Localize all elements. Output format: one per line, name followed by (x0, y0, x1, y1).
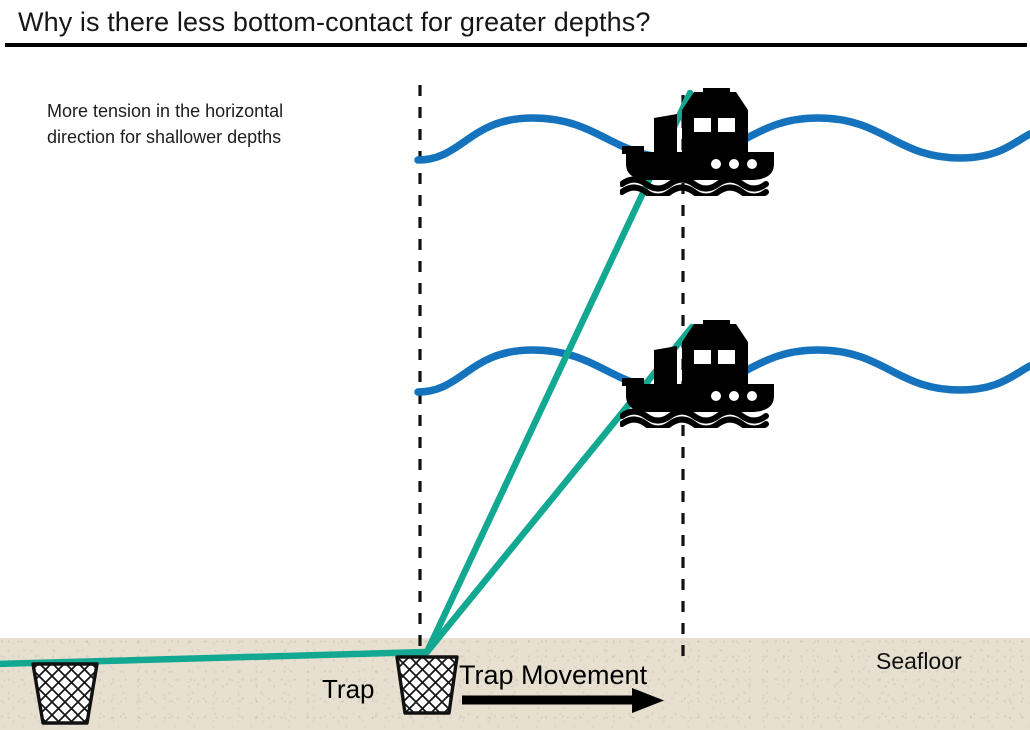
diagram-vector-layer (0, 0, 1030, 730)
right-arrow-icon (462, 688, 664, 713)
lobster-trap-icon-center (397, 657, 457, 713)
rope-line-ground (0, 652, 427, 664)
trap-movement-label: Trap Movement (459, 660, 647, 691)
slide-canvas: Why is there less bottom-contact for gre… (0, 0, 1030, 730)
fishing-boat-icon-deep (622, 294, 774, 429)
trap-label: Trap (322, 674, 375, 705)
lobster-trap-icon-left (33, 664, 97, 723)
fishing-boat-icon-shallow (622, 62, 774, 197)
seafloor-label: Seafloor (876, 648, 962, 675)
